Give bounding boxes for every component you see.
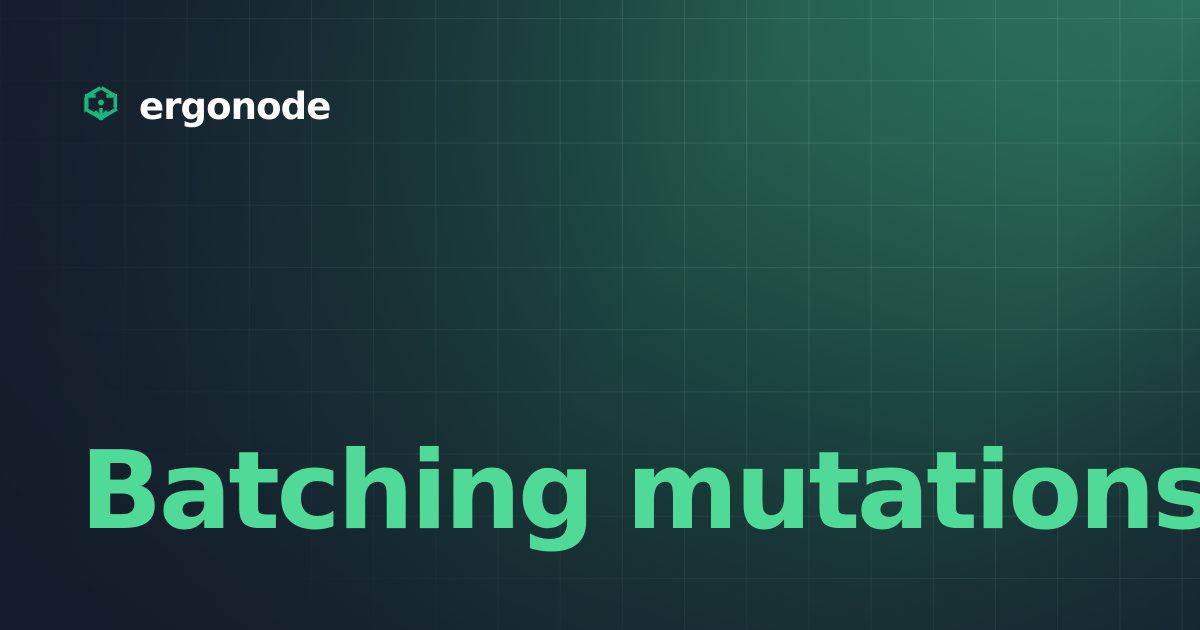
social-share-card: ergonode Batching mutations xyxy=(0,0,1200,630)
card-content: ergonode Batching mutations xyxy=(0,0,1200,630)
ergonode-cube-arrows-icon xyxy=(78,82,124,128)
page-title: Batching mutations xyxy=(80,437,1120,547)
brand-lockup: ergonode xyxy=(78,82,330,128)
brand-wordmark: ergonode xyxy=(139,88,330,125)
